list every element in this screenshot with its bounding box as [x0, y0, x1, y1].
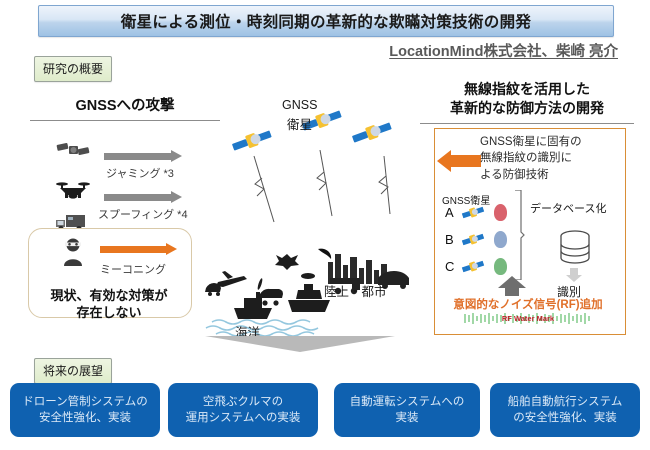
satellite-row-letter-c: C: [445, 259, 454, 274]
meaconing-note-line1: 現状、有効な対策が: [28, 288, 190, 305]
future-box-drone: ドローン管制システムの 安全性強化、実装: [10, 383, 160, 437]
attack-label-spoofing: スプーフィング *4: [98, 206, 188, 222]
meaconing-note-line2: 存在しない: [28, 305, 190, 322]
satellite-row-letter-a: A: [445, 205, 454, 220]
slide-canvas: 衛星による測位・時刻同期の革新的な欺瞞対策技術の開発 LocationMind株…: [0, 0, 650, 450]
drone-icon: [55, 178, 91, 200]
defense-description: GNSS衛星に固有の 無線指紋の識別に よる防御技術: [480, 134, 620, 183]
future-box-ship-navigation: 船舶自動航行システム の安全性強化、実装: [490, 383, 640, 437]
attack-label-meaconing: ミーコニング: [100, 261, 166, 277]
future-box-flying-car: 空飛ぶクルマの 運用システムへの実装: [168, 383, 318, 437]
future-box-autonomous-driving-line2: 実装: [350, 410, 465, 426]
attacker-icon: [60, 237, 86, 267]
rf-watermark-label: RF Water Mark: [463, 313, 593, 324]
land-city-label: 陸上・都市: [324, 281, 387, 300]
author-affiliation: LocationMind株式会社、柴崎 亮介: [389, 40, 618, 61]
spoofing-arrow: [104, 191, 182, 204]
jamming-arrow: [104, 150, 182, 163]
gnss-label-line2: 衛星: [287, 114, 312, 133]
gnss-label-line1: GNSS: [282, 98, 317, 112]
grouping-brace: [513, 190, 525, 280]
identify-down-arrow: [566, 268, 582, 282]
database-icon: [558, 230, 592, 264]
future-box-ship-navigation-line1: 船舶自動航行システム: [508, 394, 623, 410]
future-box-drone-line2: 安全性強化、実装: [22, 410, 148, 426]
satellite-icon: [56, 140, 90, 160]
defense-description-line1: GNSS衛星に固有の: [480, 134, 620, 150]
defense-description-line3: よる防御技術: [480, 167, 620, 183]
slide-title: 衛星による測位・時刻同期の革新的な欺瞞対策技術の開発: [121, 10, 531, 32]
fingerprint-b: [494, 231, 507, 248]
future-box-flying-car-line2: 運用システムへの実装: [186, 410, 301, 426]
rf-watermark-band: RF Water Mark: [463, 313, 593, 324]
database-label: データベース化: [530, 200, 606, 216]
future-box-drone-line1: ドローン管制システムの: [22, 394, 148, 410]
right-panel-rule: [420, 123, 634, 124]
tag-future-outlook: 将来の展望: [34, 358, 112, 384]
future-box-autonomous-driving: 自動運転システムへの 実装: [334, 383, 480, 437]
meaconing-note: 現状、有効な対策が 存在しない: [28, 288, 190, 322]
left-panel-rule: [30, 120, 220, 121]
slide-title-banner: 衛星による測位・時刻同期の革新的な欺瞞対策技術の開発: [38, 5, 614, 37]
meaconing-arrow: [100, 243, 178, 256]
future-box-ship-navigation-line2: の安全性強化、実装: [508, 410, 623, 426]
right-panel-heading: 無線指紋を活用した 革新的な防御方法の開発: [420, 80, 634, 124]
left-panel-heading: GNSSへの攻撃: [30, 94, 220, 121]
future-box-flying-car-line1: 空飛ぶクルマの: [186, 394, 301, 410]
noise-injection-label: 意図的なノイズ信号(RF)追加: [442, 296, 614, 312]
noise-injection-block: 意図的なノイズ信号(RF)追加 RF Water Mark: [442, 296, 614, 324]
signal-beams: [240, 150, 420, 260]
noise-injection-up-arrow: [498, 276, 526, 296]
satellite-row-letter-b: B: [445, 232, 454, 247]
left-panel-heading-text: GNSSへの攻撃: [30, 94, 220, 115]
attack-label-jamming: ジャミング *3: [106, 165, 174, 181]
future-box-autonomous-driving-line1: 自動運転システムへの: [350, 394, 465, 410]
fingerprint-a: [494, 204, 507, 221]
defense-left-arrow: [437, 150, 481, 172]
right-panel-heading-line1: 無線指紋を活用した: [420, 80, 634, 99]
fingerprint-c: [494, 258, 507, 275]
right-panel-heading-line2: 革新的な防御方法の開発: [420, 99, 634, 118]
defense-description-line2: 無線指紋の識別に: [480, 150, 620, 166]
gnss-satellite-3-icon: [349, 116, 394, 150]
down-chevron-icon: [205, 336, 395, 352]
tag-research-overview: 研究の概要: [34, 56, 112, 82]
